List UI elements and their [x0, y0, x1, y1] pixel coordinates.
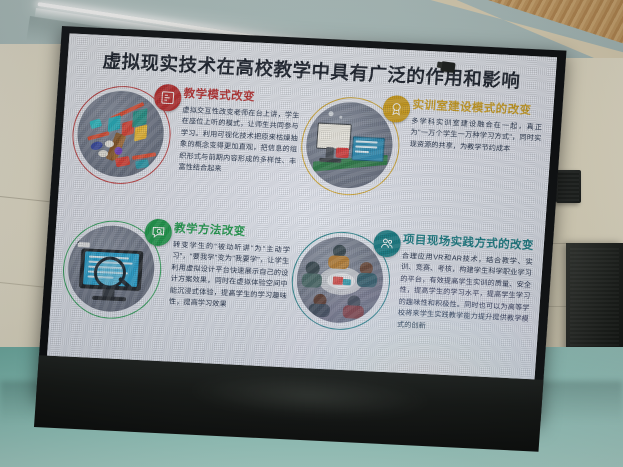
block-title: 教学模式改变	[183, 88, 301, 106]
block-text: 教学模式改变 虚拟交互性改变老师在台上讲，学生在座位上听的模式，让师生共同参与学…	[178, 79, 302, 179]
led-screen[interactable]: 虚拟现实技术在高校教学中具有广泛的作用和影响	[47, 33, 557, 379]
block-body: 虚拟交互性改变老师在台上讲，学生在座位上听的模式，让师生共同参与学习。利用可视化…	[178, 105, 300, 179]
block-title: 项目现场实践方式的改变	[403, 234, 535, 253]
slide-block-teaching-mode: 教学模式改变 虚拟交互性改变老师在台上讲，学生在座位上听的模式，让师生共同参与学…	[67, 74, 301, 218]
slide-block-lab-construction: 实训室建设模式的改变 多学科实训室建设融合在一起，真正为"一万个学生一万种学习方…	[296, 85, 544, 229]
slide-block-grid: 教学模式改变 虚拟交互性改变老师在台上讲，学生在座位上听的模式，让师生共同参与学…	[58, 74, 544, 364]
slide-block-field-practice: 项目现场实践方式的改变 合理应用VR和AR技术，结合教学、实训、竞赛、考核，构建…	[287, 220, 535, 364]
room-scene: 虚拟现实技术在高校教学中具有广泛的作用和影响	[0, 0, 623, 467]
block-text: 项目现场实践方式的改变 合理应用VR和AR技术，结合教学、实训、竞赛、考核，构建…	[397, 225, 535, 337]
block-body: 合理应用VR和AR技术，结合教学、实训、竞赛、考核，构建学生科学职业学习的平台，…	[397, 251, 533, 338]
seal-stamp-icon	[153, 84, 182, 112]
block-title: 实训室建设模式的改变	[412, 99, 544, 118]
chat-search-icon	[144, 219, 173, 247]
block-text: 教学方法改变 转变学生的"被动听讲"为"主动学习"，"要我学"变为"我要学"，让…	[169, 214, 293, 314]
illustration-wrap	[298, 91, 409, 200]
medal-seal-icon	[382, 95, 411, 123]
wall-speaker	[556, 170, 581, 203]
slide-block-teaching-method: 教学方法改变 转变学生的"被动听讲"为"主动学习"，"要我学"变为"我要学"，让…	[58, 209, 292, 353]
illustration-wrap	[60, 215, 171, 324]
illustration-wrap	[288, 226, 399, 335]
block-body: 多学科实训室建设融合在一起，真正为"一万个学生一万种学习方式"，同时实现资源的共…	[409, 116, 542, 157]
block-body: 转变学生的"被动听讲"为"主动学习"，"要我学"变为"我要学"，让学生利用虚拟设…	[169, 240, 291, 314]
presentation-slide: 虚拟现实技术在高校教学中具有广泛的作用和影响	[47, 33, 557, 379]
block-text: 实训室建设模式的改变 多学科实训室建设融合在一起，真正为"一万个学生一万种学习方…	[409, 91, 544, 157]
led-video-wall[interactable]: 虚拟现实技术在高校教学中具有广泛的作用和影响	[36, 26, 566, 422]
team-seal-icon	[373, 230, 402, 258]
ceiling-camera-icon	[440, 61, 455, 73]
illustration-wrap	[69, 80, 180, 189]
block-title: 教学方法改变	[174, 223, 292, 241]
